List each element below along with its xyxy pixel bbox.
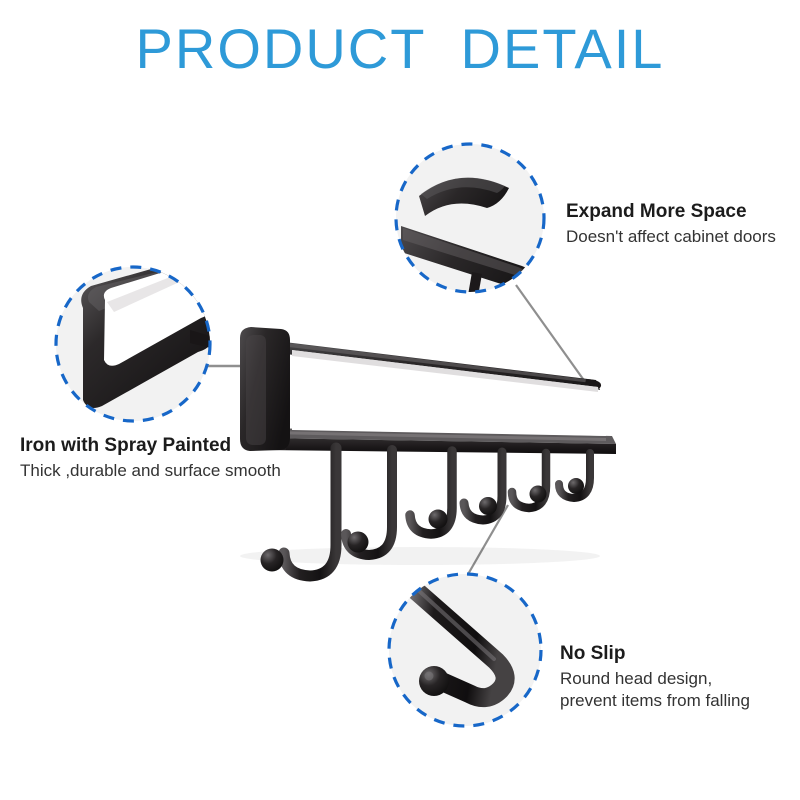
callout-iron-subtitle-line-1: Thick ,durable and surface smooth bbox=[20, 460, 281, 482]
callout-no-slip: No Slip Round head design, prevent items… bbox=[560, 642, 750, 711]
callout-noslip-title: No Slip bbox=[560, 642, 750, 666]
callout-expand-subtitle-line-1: Doesn't affect cabinet doors bbox=[566, 226, 776, 248]
rack-hook-2 bbox=[346, 450, 392, 555]
product-detail-image: PRODUCT DETAIL Expand More Space Doesn't… bbox=[0, 0, 800, 800]
callout-iron-with-spray-painted: Iron with Spray Painted Thick ,durable a… bbox=[20, 434, 281, 482]
detail-circle-iron bbox=[54, 252, 224, 423]
leader-line-expand bbox=[516, 285, 588, 386]
callout-expand-title: Expand More Space bbox=[566, 200, 776, 224]
callout-iron-title: Iron with Spray Painted bbox=[20, 434, 281, 458]
callout-noslip-subtitle-line-1: Round head design, bbox=[560, 668, 750, 690]
page-title: PRODUCT DETAIL bbox=[0, 18, 800, 80]
callout-noslip-subtitle-line-2: prevent items from falling bbox=[560, 690, 750, 712]
rack-hook-3 bbox=[410, 451, 452, 534]
rack-hook-4 bbox=[464, 452, 502, 520]
rack-hook-6 bbox=[559, 453, 590, 498]
rack-hook-5 bbox=[512, 453, 547, 508]
detail-circle-expand bbox=[394, 142, 546, 330]
detail-circle-noslip bbox=[388, 573, 542, 727]
rack-end-cap bbox=[240, 327, 290, 451]
main-product-rack bbox=[240, 327, 616, 576]
callout-expand-more-space: Expand More Space Doesn't affect cabinet… bbox=[566, 200, 776, 248]
